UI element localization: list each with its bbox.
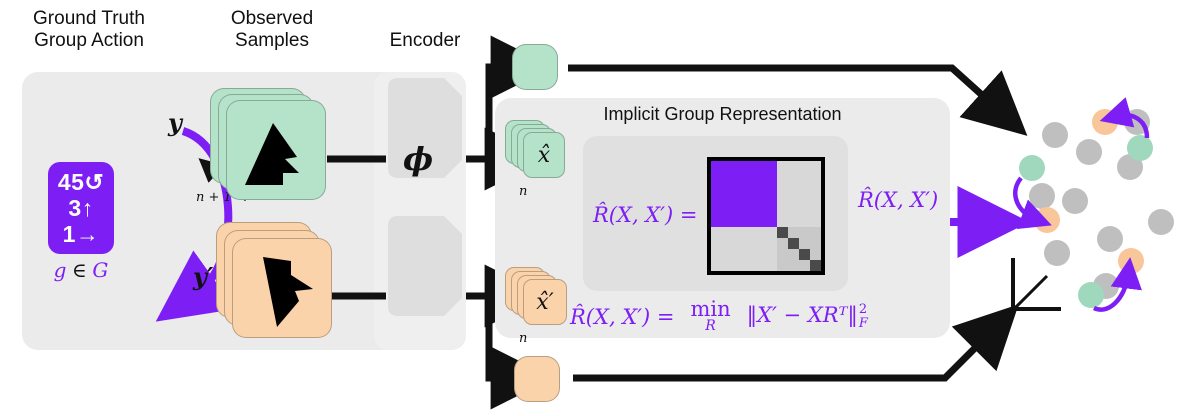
encoder-column-panel bbox=[374, 72, 466, 350]
latent-xhat-count-text: n bbox=[519, 184, 527, 199]
matrix-diag-block-3 bbox=[799, 249, 810, 260]
header-observed-line1: Observed bbox=[212, 8, 332, 30]
header-encoder: Encoder bbox=[370, 30, 480, 52]
matrix-diag-block-4 bbox=[810, 260, 821, 271]
group-action-caption-G: G bbox=[92, 258, 108, 282]
encoder-phi-text: ϕ bbox=[403, 140, 433, 178]
igr-output-label-text: R̂(X, X′) bbox=[858, 188, 938, 212]
shape-glyph-orange bbox=[263, 257, 313, 327]
group-action-caption: g ∈ G bbox=[48, 258, 114, 283]
group-action-caption-g: g bbox=[54, 258, 67, 282]
latent-xhatp-symbol: x̂′ bbox=[536, 290, 553, 315]
latent-xhat-symbol: x̂ bbox=[538, 143, 550, 168]
latent-xhatp-count-text: n bbox=[519, 331, 527, 346]
latent-xhat-count-label: n bbox=[519, 184, 527, 199]
sample-label-y: y bbox=[168, 108, 182, 137]
latent-output-green-box bbox=[512, 44, 558, 90]
matrix-purple-block bbox=[711, 161, 777, 227]
igr-matrix-label: R̂(X, X′) = bbox=[593, 203, 698, 227]
shape-glyph-green bbox=[245, 123, 299, 185]
latent-xhatp-front: x̂′ bbox=[523, 279, 567, 325]
header-ground-truth-line1: Ground Truth bbox=[14, 8, 164, 30]
igr-output-label: R̂(X, X′) bbox=[858, 188, 938, 212]
sample-label-y-text: y bbox=[168, 108, 182, 137]
matrix-diag-block-1 bbox=[777, 227, 788, 238]
igr-objective-norm: ‖X′ − XRᵀ‖ bbox=[747, 303, 858, 327]
group-action-box: 45↺ 3↑ 1→ bbox=[48, 162, 114, 254]
edge-bottom-orange-to-scatter bbox=[573, 338, 985, 378]
igr-objective-norm-sub: F bbox=[859, 317, 868, 331]
igr-objective-lhs: R̂(X, X′) = bbox=[570, 305, 675, 329]
igr-objective-min: min bbox=[691, 300, 731, 320]
header-observed-samples: Observed Samples bbox=[212, 8, 332, 52]
igr-objective-min-sub: R bbox=[705, 320, 716, 333]
encoder-phi-symbol: ϕ bbox=[388, 140, 448, 178]
igr-objective-norm-sup: 2 bbox=[859, 303, 868, 317]
header-encoder-label: Encoder bbox=[390, 30, 461, 51]
scatter-points-other bbox=[1029, 109, 1174, 299]
sample-label-y-prime: y′ bbox=[193, 262, 213, 291]
group-action-line-right: 1→ bbox=[63, 221, 100, 247]
igr-matrix-label-text: R̂(X, X′) = bbox=[593, 203, 698, 227]
group-action-line-rotation: 45↺ bbox=[58, 169, 104, 195]
header-observed-line2: Samples bbox=[212, 30, 332, 52]
latent-output-orange-box bbox=[514, 356, 560, 402]
igr-title: Implicit Group Representation bbox=[495, 104, 950, 125]
latent-xhatp-count-label: n bbox=[519, 331, 527, 346]
latent-xhat-front: x̂ bbox=[523, 132, 565, 178]
observed-sample-green-front bbox=[226, 100, 326, 200]
group-action-line-up: 3↑ bbox=[68, 195, 93, 221]
matrix-diag-block-2 bbox=[788, 238, 799, 249]
header-ground-truth-line2: Group Action bbox=[14, 30, 164, 52]
igr-objective: R̂(X, X′) = min R ‖X′ − XRᵀ‖ 2 F bbox=[570, 300, 868, 333]
group-action-caption-in: ∈ bbox=[72, 258, 87, 282]
igr-title-text: Implicit Group Representation bbox=[603, 104, 841, 124]
observed-sample-orange-front bbox=[232, 238, 332, 338]
sample-label-y-prime-text: y′ bbox=[193, 262, 213, 291]
header-ground-truth: Ground Truth Group Action bbox=[14, 8, 164, 52]
representation-matrix bbox=[707, 157, 825, 275]
latent-space-scatter bbox=[995, 95, 1190, 320]
